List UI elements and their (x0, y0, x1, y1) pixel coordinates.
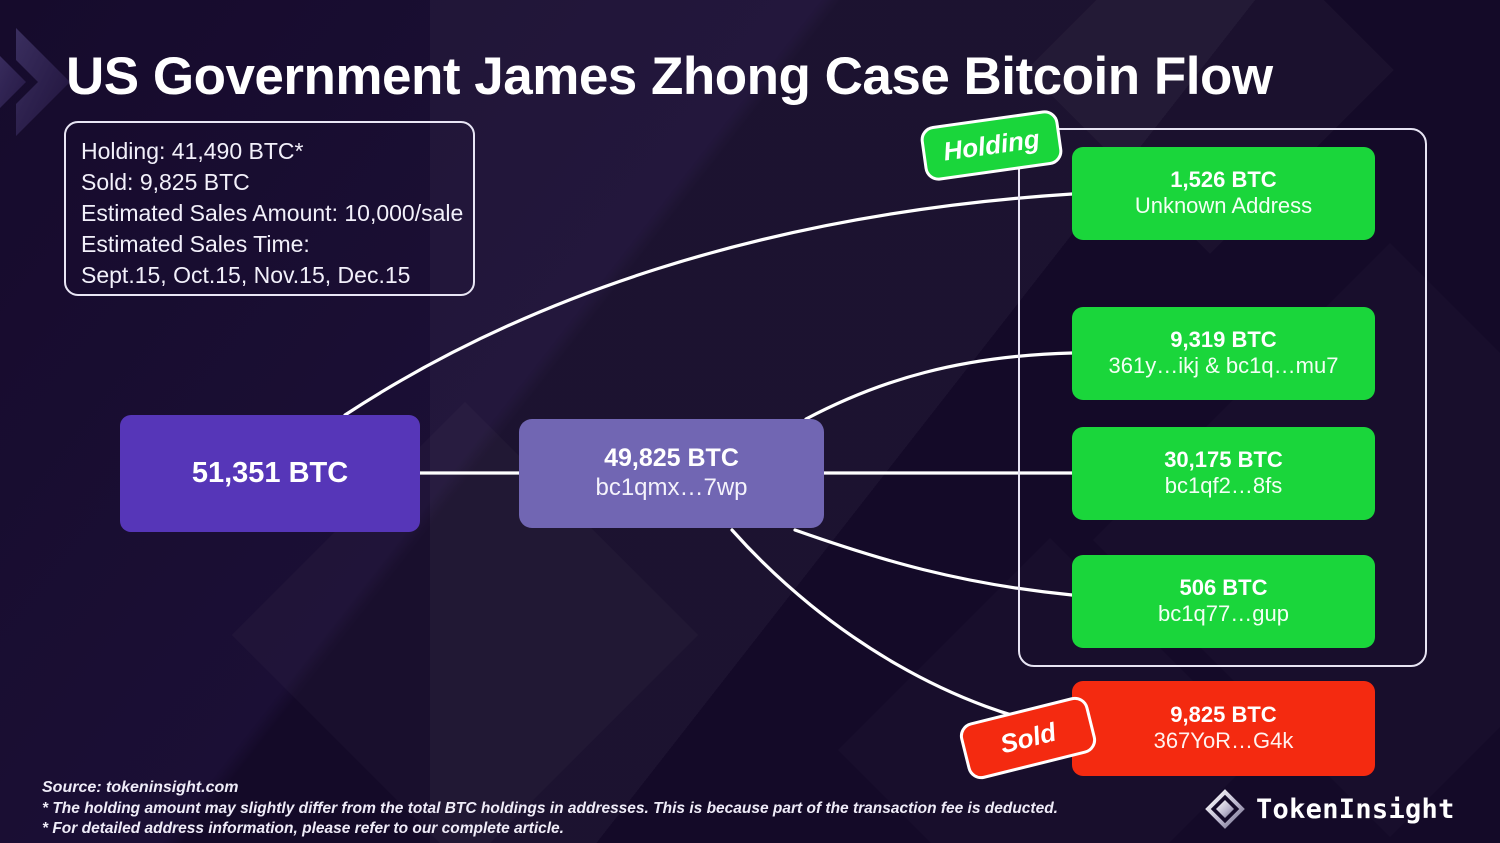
footer-source: Source: tokeninsight.com (42, 778, 1162, 799)
node-holding-2-amount: 9,319 BTC (1170, 327, 1276, 353)
node-holding-1-amount: 1,526 BTC (1170, 167, 1276, 193)
node-holding-4-amount: 506 BTC (1179, 575, 1267, 601)
node-source-total[interactable]: 51,351 BTC (120, 415, 420, 532)
node-holding-3[interactable]: 30,175 BTC bc1qf2…8fs (1072, 427, 1375, 520)
node-holding-1[interactable]: 1,526 BTC Unknown Address (1072, 147, 1375, 240)
info-line-sold: Sold: 9,825 BTC (81, 167, 473, 198)
info-line-sales-amount: Estimated Sales Amount: 10,000/sale (81, 198, 473, 229)
node-intermediate-address[interactable]: 49,825 BTC bc1qmx…7wp (519, 419, 824, 528)
summary-info-box: Holding: 41,490 BTC* Sold: 9,825 BTC Est… (64, 121, 475, 296)
node-holding-4[interactable]: 506 BTC bc1q77…gup (1072, 555, 1375, 648)
page-title: US Government James Zhong Case Bitcoin F… (66, 46, 1273, 107)
footer-note-2: * For detailed address information, plea… (42, 819, 1162, 840)
tag-holding-label: Holding (941, 123, 1041, 167)
tag-sold-label: Sold (997, 716, 1059, 760)
node-intermediate-amount: 49,825 BTC (604, 444, 739, 473)
infographic-canvas: US Government James Zhong Case Bitcoin F… (0, 0, 1500, 843)
info-line-sales-time-values: Sept.15, Oct.15, Nov.15, Dec.15 (81, 260, 473, 291)
node-source-amount: 51,351 BTC (192, 457, 348, 491)
node-holding-2[interactable]: 9,319 BTC 361y…ikj & bc1q…mu7 (1072, 307, 1375, 400)
node-sold[interactable]: 9,825 BTC 367YoR…G4k (1072, 681, 1375, 776)
info-line-sales-time-label: Estimated Sales Time: (81, 229, 473, 260)
tokeninsight-logo-icon (1205, 789, 1245, 829)
node-holding-2-address: 361y…ikj & bc1q…mu7 (1109, 353, 1339, 380)
node-sold-address: 367YoR…G4k (1154, 728, 1294, 755)
footer-notes: Source: tokeninsight.com * The holding a… (42, 778, 1162, 840)
node-holding-3-amount: 30,175 BTC (1164, 447, 1283, 473)
footer-note-1: * The holding amount may slightly differ… (42, 799, 1162, 820)
node-sold-amount: 9,825 BTC (1170, 702, 1276, 728)
brand-name: TokenInsight (1256, 794, 1455, 825)
node-intermediate-address-label: bc1qmx…7wp (595, 473, 747, 502)
brand-logo: TokenInsight (1205, 789, 1455, 829)
info-line-holding: Holding: 41,490 BTC* (81, 136, 473, 167)
node-holding-3-address: bc1qf2…8fs (1165, 473, 1282, 500)
node-holding-4-address: bc1q77…gup (1158, 601, 1289, 628)
node-holding-1-address: Unknown Address (1135, 193, 1312, 220)
